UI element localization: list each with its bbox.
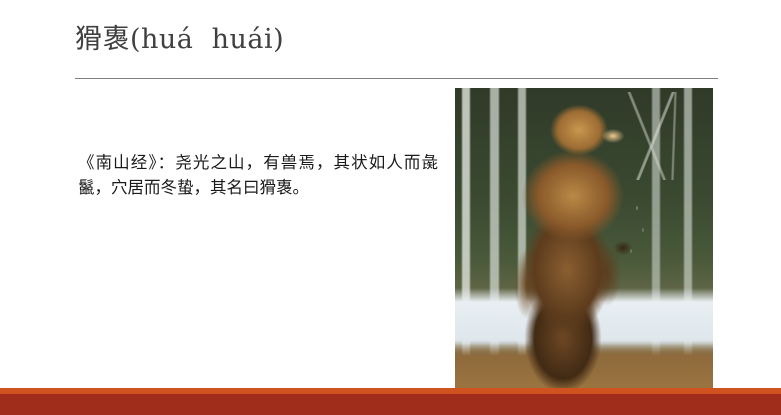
title-block: 猾褢(huá huái) [75,18,720,74]
title-divider-rule [75,78,718,79]
bare-branches-detail [605,92,713,180]
page-title: 猾褢(huá huái) [75,18,720,62]
body-paragraph: 《南山经》：尧光之山，有兽焉，其状如人而彘鬣，穴居而冬蛰，其名曰猾褢。 [78,150,438,200]
accent-bar-red [0,394,781,415]
bear-photo [455,88,713,388]
body-text-block: 《南山经》：尧光之山，有兽焉，其状如人而彘鬣，穴居而冬蛰，其名曰猾褢。 [78,150,438,200]
slide-canvas: 猾褢(huá huái) 《南山经》：尧光之山，有兽焉，其状如人而彘鬣，穴居而冬… [0,0,781,415]
